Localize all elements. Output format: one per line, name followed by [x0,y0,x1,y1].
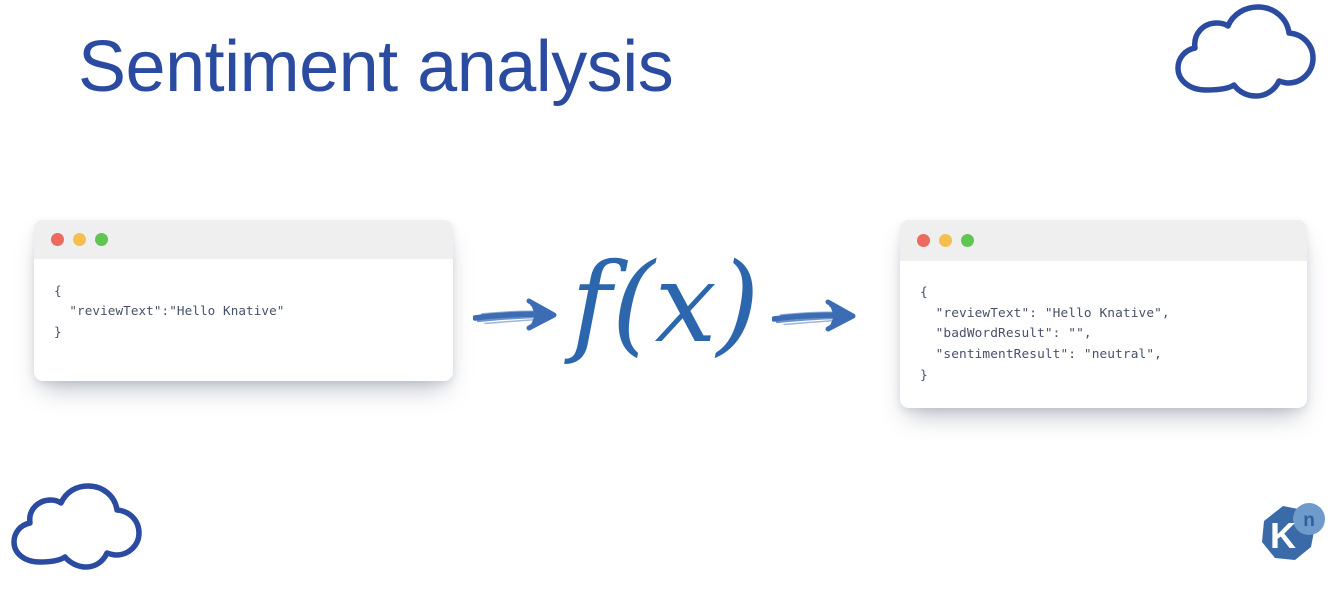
knative-logo-superscript: n [1303,510,1315,531]
knative-logo: K n [1253,500,1327,577]
response-payload-window: { "reviewText": "Hello Knative", "badWor… [900,220,1307,408]
window-body: { "reviewText":"Hello Knative" } [34,259,453,342]
cloud-icon [1165,4,1325,114]
close-button-dot[interactable] [917,234,930,247]
minimize-button-dot[interactable] [73,233,86,246]
knative-logo-letter: K [1270,515,1296,556]
response-json-code: { "reviewText": "Hello Knative", "badWor… [920,283,1287,387]
window-titlebar [34,220,453,259]
window-titlebar [900,220,1307,261]
arrow-input-to-function [473,296,559,343]
window-body: { "reviewText": "Hello Knative", "badWor… [900,261,1307,387]
cloud-top-right [1165,4,1325,119]
request-payload-window: { "reviewText":"Hello Knative" } [34,220,453,381]
arrow-right-icon [473,296,559,338]
maximize-button-dot[interactable] [961,234,974,247]
cloud-bottom-left [2,483,148,590]
knative-logo-icon: K n [1253,500,1327,572]
arrow-right-icon [772,297,858,339]
cloud-icon [2,483,148,585]
minimize-button-dot[interactable] [939,234,952,247]
close-button-dot[interactable] [51,233,64,246]
arrow-function-to-output [772,297,858,344]
maximize-button-dot[interactable] [95,233,108,246]
request-json-code: { "reviewText":"Hello Knative" } [54,281,433,342]
function-label: f(x) [571,248,760,358]
page-title: Sentiment analysis [78,30,673,106]
